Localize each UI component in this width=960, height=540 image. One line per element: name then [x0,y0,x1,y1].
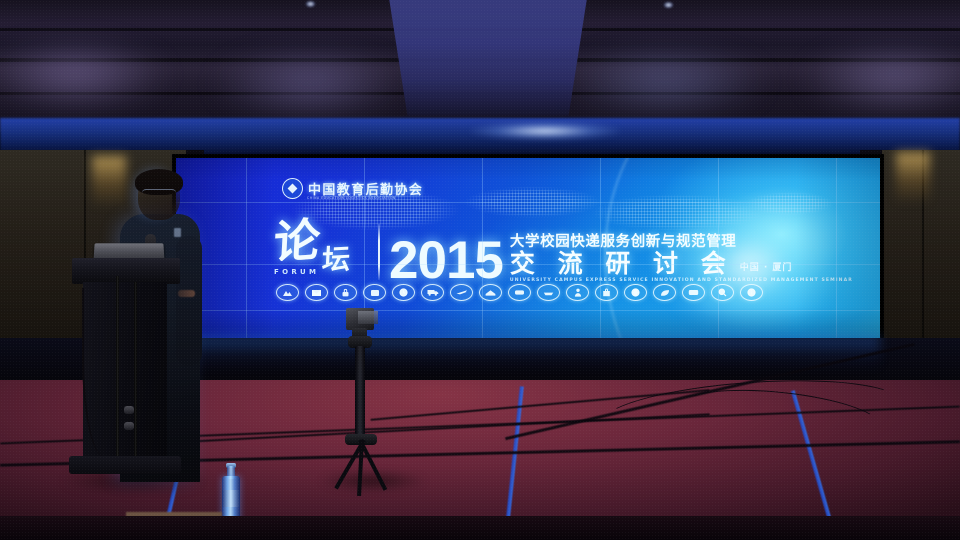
camera-lcd-screen [358,311,378,324]
bag-icon [595,284,618,301]
soffit-spotlight [470,122,620,140]
document-icon [363,284,386,301]
ceiling-projector-box [382,0,594,116]
title-line-1: 大学校园快递服务创新与规范管理 [510,230,853,251]
forum-char-2: 坛 [321,245,351,274]
event-year: 2015 [389,237,503,286]
title-subtitle-en: UNIVERSITY CAMPUS EXPRESS SERVICE INNOVA… [510,278,853,283]
clock-icon [392,284,415,301]
association-name-en: CHINA EDUCATION LOGISTICS ASSOCIATION [307,196,396,200]
speaker-wristwatch [178,290,195,297]
lectern-knob-2 [124,422,134,430]
plane-icon [450,284,473,301]
lock-icon [334,284,357,301]
lectern [72,258,180,480]
speaker-name-badge [174,228,181,237]
speaker-glasses [142,189,176,198]
event-city: 中国 · 厦门 [740,260,793,277]
leaf-icon [653,284,676,301]
lectern-top [72,258,180,284]
mountain-icon [276,284,299,301]
lectern-base [69,456,181,474]
train-icon [508,284,531,301]
tripod-center-column [355,346,365,438]
ceiling-light-1 [306,1,315,7]
globe-icon [624,284,647,301]
right-wall-wash-light [896,152,930,204]
banner-title-block: 论 坛 FORUM 2015 大学校园快递服务创新与规范管理 交 流 研 讨 会… [272,220,853,284]
truck-icon [421,284,444,301]
person-icon [566,284,589,301]
forum-char-1: 论 [273,216,322,265]
lectern-knob-1 [124,406,134,414]
association-emblem-icon [282,178,303,199]
video-camera [346,308,374,330]
led-video-wall: 中国教育后勤协会 CHINA EDUCATION LOGISTICS ASSOC… [176,158,880,340]
forum-calligraphy: 论 坛 FORUM [272,220,376,284]
banner-icon-strip [276,284,763,301]
title-text-group: 大学校园快递服务创新与规范管理 交 流 研 讨 会 中国 · 厦门 UNIVER… [510,230,853,283]
stage-front-edge [0,516,960,540]
screen-light-spill [176,336,880,370]
info-icon [740,284,763,301]
camera-tripod-assembly [337,308,397,493]
boat-icon [537,284,560,301]
search-icon [711,284,734,301]
title-divider [378,224,380,280]
conference-photo-scene: 中国教育后勤协会 CHINA EDUCATION LOGISTICS ASSOC… [0,0,960,540]
envelope-icon [305,284,328,301]
card-icon [682,284,705,301]
microphone-stand-right [134,282,137,464]
ceiling-light-2 [664,2,673,8]
bottle-label [222,490,240,507]
forum-label-en: FORUM [274,268,319,276]
